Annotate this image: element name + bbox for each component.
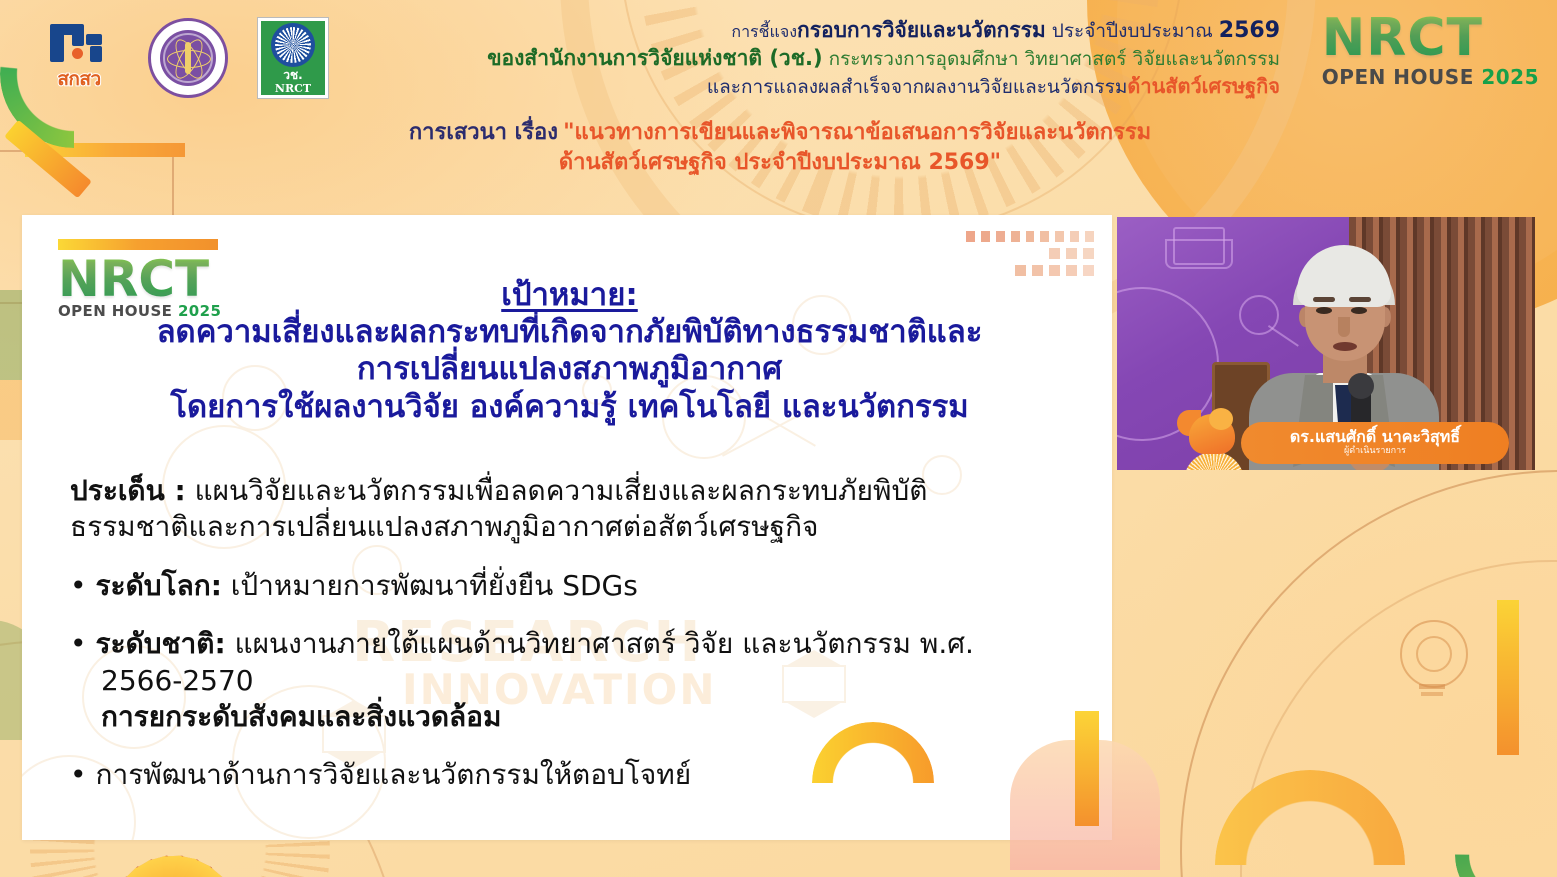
slide-dot-pattern xyxy=(966,231,1094,282)
bullet-marker-icon: • xyxy=(70,757,87,793)
decorative-bar-orange-outer xyxy=(1497,600,1519,755)
session-subtitle: การเสวนา เรื่อง "แนวทางการเขียนและพิจารณ… xyxy=(300,118,1260,178)
nrct-open-house-logo: NRCT OPEN HOUSE 2025 xyxy=(1322,14,1539,89)
bullet-marker-icon: • xyxy=(70,568,87,604)
open-house-year: 2025 xyxy=(1481,65,1539,89)
bullet-national-years: 2566-2570 xyxy=(101,663,1070,699)
speaker-eye-left xyxy=(1316,307,1332,314)
issue-text: แผนวิจัยและนวัตกรรมเพื่อลดความเสี่ยงและผ… xyxy=(186,474,928,507)
session-title-line1: "แนวทางการเขียนและพิจารณาข้อเสนอการวิจัย… xyxy=(563,120,1151,145)
slide-logo-accent-bar xyxy=(58,239,218,250)
slide-title-line-2: การเปลี่ยนแปลงสภาพภูมิอากาศ xyxy=(82,351,1057,388)
slide-bullet-development: • การพัฒนาด้านการวิจัยและนวัตกรรมให้ตอบโ… xyxy=(70,757,1070,793)
slide-title-line-3: โดยการใช้ผลงานวิจัย องค์ความรู้ เทคโนโลย… xyxy=(82,389,1057,426)
header-line-3: และการแถลงผลสำเร็จจากผลงานวิจัยและนวัตกร… xyxy=(470,73,1280,100)
speaker-eye-right xyxy=(1351,307,1367,314)
header-line1-mid: ประจำปีงบประมาณ xyxy=(1046,20,1219,42)
session-title-line2: ด้านสัตว์เศรษฐกิจ ประจำปีงบประมาณ 2569" xyxy=(559,150,1001,175)
session-subtitle-line-1: การเสวนา เรื่อง "แนวทางการเขียนและพิจารณ… xyxy=(300,118,1260,148)
nrct-subtitle: OPEN HOUSE 2025 xyxy=(1322,65,1539,89)
header-line2-rest: กระทรวงการอุดมศึกษา วิทยาศาสตร์ วิจัยและ… xyxy=(823,48,1280,70)
speaker-brow-left xyxy=(1313,297,1335,302)
bullet-development-text: การพัฒนาด้านการวิจัยและนวัตกรรมให้ตอบโจท… xyxy=(96,757,692,793)
slide-issue-line-1: ประเด็น : แผนวิจัยและนวัตกรรมเพื่อลดความ… xyxy=(70,473,1070,509)
slide-bullet-global: • ระดับโลก: เป้าหมายการพัฒนาที่ยั่งยืน S… xyxy=(70,568,1070,604)
event-header-text: การชี้แจงกรอบการวิจัยและนวัตกรรม ประจำปี… xyxy=(470,16,1280,100)
lightbulb-base-2 xyxy=(1421,692,1443,696)
bullet-national-text: แผนงานภายใต้แผนด้านวิทยาศาสตร์ วิจัย และ… xyxy=(226,627,974,660)
header-line3-orange: ด้านสัตว์เศรษฐกิจ xyxy=(1127,74,1280,98)
gear-icon xyxy=(1416,636,1452,672)
slide-body: ประเด็น : แผนวิจัยและนวัตกรรมเพื่อลดความ… xyxy=(70,473,1070,816)
nrct-wordmark: NRCT xyxy=(1322,14,1539,64)
session-subtitle-line-2: ด้านสัตว์เศรษฐกิจ ประจำปีงบประมาณ 2569" xyxy=(300,148,1260,178)
bullet-national-subtext: การยกระดับสังคมและสิ่งแวดล้อม xyxy=(101,699,1070,735)
header-line1-bold: กรอบการวิจัยและนวัตกรรม xyxy=(797,18,1046,42)
bullet-global-content: ระดับโลก: เป้าหมายการพัฒนาที่ยั่งยืน SDG… xyxy=(96,568,638,604)
book-icon-base xyxy=(1165,239,1233,269)
slide-bullet-national: • ระดับชาติ: แผนงานภายใต้แผนด้านวิทยาศาส… xyxy=(70,626,1070,735)
nrct-green-logo: วช. NRCT xyxy=(258,18,328,98)
slide-issue-block: ประเด็น : แผนวิจัยและนวัตกรรมเพื่อลดความ… xyxy=(70,473,1070,546)
bullet-global-label: ระดับโลก: xyxy=(96,569,222,602)
open-house-label: OPEN HOUSE xyxy=(1322,65,1474,89)
header-line1-thin: การชี้แจง xyxy=(731,22,797,41)
video-feed[interactable]: ดร.แสนศักดิ์ นาคะวิสุทธิ์ ผู้ดำเนินรายกา… xyxy=(1117,217,1535,470)
bullet-national-content: ระดับชาติ: แผนงานภายใต้แผนด้านวิทยาศาสตร… xyxy=(96,626,974,662)
bullet-marker-icon: • xyxy=(70,626,87,662)
nrct-emblem-icon xyxy=(271,23,315,67)
header-line1-year: 2569 xyxy=(1219,18,1280,43)
issue-label: ประเด็น : xyxy=(70,474,186,507)
bullet-national-label: ระดับชาติ: xyxy=(96,627,226,660)
speaker-name: ดร.แสนศักดิ์ นาคะวิสุทธิ์ xyxy=(1290,429,1460,446)
presentation-slide[interactable]: RESEARCH INNOVATION xyxy=(22,215,1112,840)
decorative-bar-vertical xyxy=(1075,711,1099,826)
header-line-2: ของสำนักงานการวิจัยแห่งชาติ (วช.) กระทรว… xyxy=(470,45,1280,73)
lightbulb-base xyxy=(1419,684,1445,689)
speaker-nose xyxy=(1338,317,1350,337)
speaker-role: ผู้ดำเนินรายการ xyxy=(1344,446,1406,457)
screen-root: สกสว วช. NRCT การชี้แจงกรอบการวิจัยและนว… xyxy=(0,0,1557,877)
header-line2-bold: ของสำนักงานการวิจัยแห่งชาติ (วช.) xyxy=(487,46,822,70)
header-line-1: การชี้แจงกรอบการวิจัยและนวัตกรรม ประจำปี… xyxy=(470,16,1280,45)
speaker-hair xyxy=(1297,245,1391,307)
mascot-head xyxy=(1209,408,1233,430)
header-line3-thin: และการแถลงผลสำเร็จจากผลงานวิจัยและนวัตกร… xyxy=(707,76,1128,98)
issue-text-2: ธรรมชาติและการเปลี่ยนแปลงสภาพภูมิอากาศต่… xyxy=(70,509,1070,545)
bullet-national-line-1: • ระดับชาติ: แผนงานภายใต้แผนด้านวิทยาศาส… xyxy=(70,626,1070,662)
slide-title: เป้าหมาย: ลดความเสี่ยงและผลกระทบที่เกิดจ… xyxy=(82,277,1057,426)
seal-inner-disc xyxy=(160,30,216,86)
microphone-head xyxy=(1348,373,1374,399)
session-label: การเสวนา เรื่อง xyxy=(409,120,558,145)
slide-title-line-1: ลดความเสี่ยงและผลกระทบที่เกิดจากภัยพิบัต… xyxy=(82,314,1057,351)
speaker-brow-right xyxy=(1349,297,1371,302)
ministry-seal-logo xyxy=(148,18,228,98)
bullet-global-text: เป้าหมายการพัฒนาที่ยั่งยืน SDGs xyxy=(222,569,638,602)
nrct-green-thai-label: วช. xyxy=(283,69,302,81)
speaker-mouth xyxy=(1333,342,1357,351)
speaker-nameplate: ดร.แสนศักดิ์ นาคะวิสุทธิ์ ผู้ดำเนินรายกา… xyxy=(1241,422,1509,464)
slide-goal-label: เป้าหมาย: xyxy=(82,277,1057,314)
nrct-green-en-label: NRCT xyxy=(275,83,311,94)
